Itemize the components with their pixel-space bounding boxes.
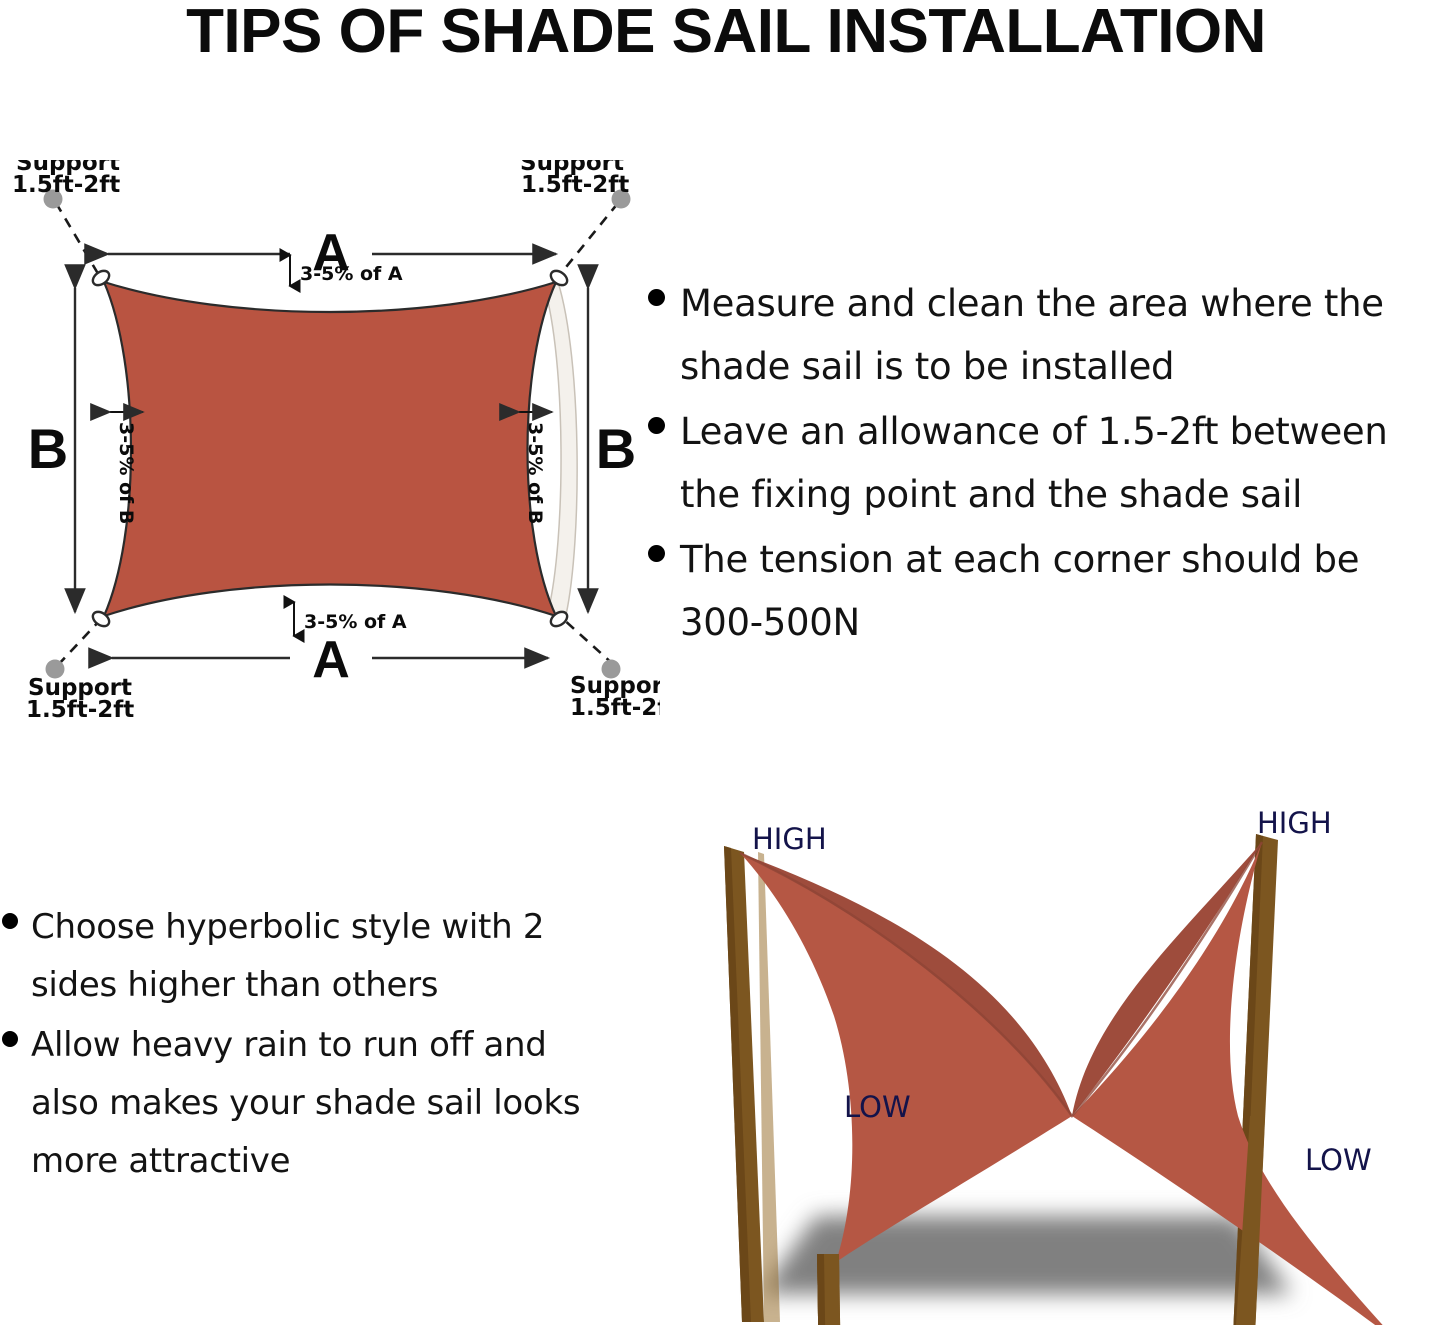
tip-text: Leave an allowance of 1.5-2ft between th… — [680, 400, 1452, 526]
support-label-bottom-right-line2: 1.5ft-2ft — [570, 695, 660, 721]
label-high-right: HIGH — [1257, 806, 1332, 840]
tip-text: Choose hyperbolic style with 2 sides hig… — [31, 898, 622, 1014]
pole-high-left — [724, 846, 780, 1322]
sail-left-lobe — [740, 853, 1072, 1262]
curve-depth-label-bottom: 3-5% of A — [304, 611, 407, 633]
curve-depth-label-right: 3-5% of B — [524, 422, 546, 524]
dim-label-bottom-A: A — [312, 631, 350, 689]
bullet-dot-icon — [648, 545, 665, 562]
tip-text: Allow heavy rain to run off and also mak… — [31, 1016, 622, 1190]
installation-tips-list-left: Choose hyperbolic style with 2 sides hig… — [2, 898, 622, 1192]
page-title: TIPS OF SHADE SAIL INSTALLATION — [0, 0, 1452, 67]
list-item: Leave an allowance of 1.5-2ft between th… — [648, 400, 1452, 526]
list-item: Allow heavy rain to run off and also mak… — [2, 1016, 622, 1190]
label-high-left: HIGH — [752, 822, 827, 856]
list-item: Measure and clean the area where the sha… — [648, 272, 1452, 398]
tip-text: The tension at each corner should be 300… — [680, 528, 1452, 654]
support-label-top-left-line2: 1.5ft-2ft — [12, 172, 120, 198]
label-low-left: LOW — [844, 1090, 911, 1124]
dim-label-left-B: B — [28, 417, 68, 480]
pole-low-left-front-overlay — [817, 1254, 842, 1325]
list-item: The tension at each corner should be 300… — [648, 528, 1452, 654]
support-label-top-right-line2: 1.5ft-2ft — [521, 172, 629, 198]
dim-label-right-B: B — [596, 417, 636, 480]
rectangular-sail-diagram: A A B B 3-5% of A 3-5% of A 3-5% of B 3-… — [0, 160, 660, 740]
list-item: Choose hyperbolic style with 2 sides hig… — [2, 898, 622, 1014]
installation-tips-list-right: Measure and clean the area where the sha… — [648, 272, 1452, 656]
support-label-bottom-left-line2: 1.5ft-2ft — [26, 697, 134, 723]
bullet-dot-icon — [2, 1031, 18, 1047]
curve-depth-label-left: 3-5% of B — [115, 422, 137, 524]
label-low-right: LOW — [1305, 1143, 1372, 1177]
shade-sail-shape — [104, 282, 556, 616]
sail-underside-sliver — [544, 282, 577, 615]
curve-depth-label-top: 3-5% of A — [300, 263, 403, 285]
tip-text: Measure and clean the area where the sha… — [680, 272, 1452, 398]
bullet-dot-icon — [648, 289, 665, 306]
bullet-dot-icon — [2, 913, 18, 929]
bullet-dot-icon — [648, 417, 665, 434]
hyperbolic-sail-diagram — [620, 786, 1452, 1325]
